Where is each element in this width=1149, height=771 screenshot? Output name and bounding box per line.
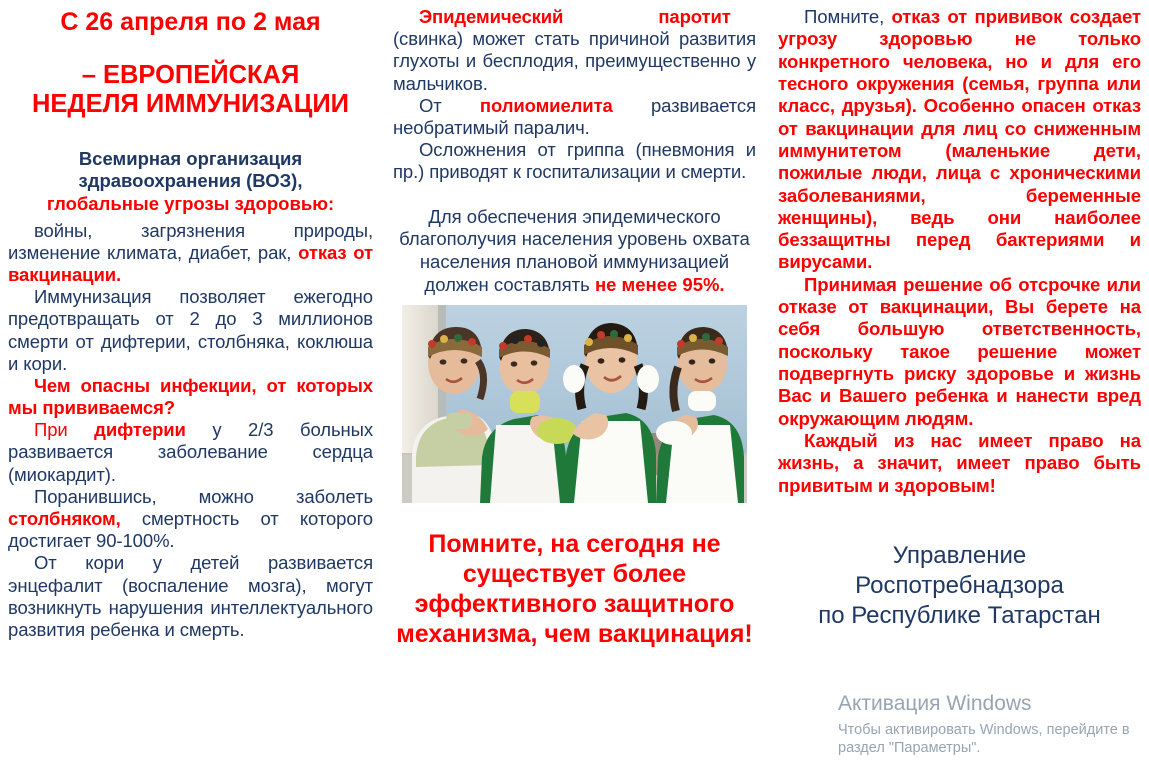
- org-line-2: Роспотребнадзора: [855, 572, 1064, 599]
- remember-prefix: Помните,: [804, 6, 891, 27]
- immunization-week-poster: С 26 апреля по 2 мая – ЕВРОПЕЙСКАЯ НЕДЕЛ…: [0, 0, 1149, 771]
- polio-prefix: От: [419, 95, 480, 116]
- remember-body: отказ от прививок создает угрозу здоровь…: [778, 6, 1141, 272]
- poster-column-right: Помните, отказ от прививок создает угроз…: [766, 0, 1149, 771]
- polio-keyword: полиомиелита: [480, 95, 613, 116]
- mumps-keyword-1: Эпидемический: [419, 6, 563, 27]
- who-global-threats: глобальные угрозы здоровью:: [8, 193, 373, 216]
- diphtheria-prefix: При: [34, 419, 94, 440]
- paragraph-threats: войны, загрязнения природы, изменение кл…: [8, 220, 373, 287]
- paragraph-flu: Осложнения от гриппа (пневмония и пр.) п…: [393, 139, 756, 183]
- paragraph-coverage: Для обеспечения эпидемического благополу…: [393, 206, 756, 297]
- paragraph-right-to-life: Каждый из нас имеет право на жизнь, а зн…: [778, 430, 1141, 497]
- paragraph-remember-refusal: Помните, отказ от прививок создает угроз…: [778, 6, 1141, 274]
- poster-column-left: С 26 апреля по 2 мая – ЕВРОПЕЙСКАЯ НЕДЕЛ…: [0, 0, 383, 771]
- tetanus-prefix: Поранившись, можно заболеть: [34, 486, 373, 507]
- mumps-keyword-2: паротит: [658, 6, 730, 27]
- paragraph-immunization-prevents: Иммунизация позволяет ежегодно предотвра…: [8, 286, 373, 375]
- poster-column-middle: Эпидемическийпаротит (свинка) может стат…: [383, 0, 766, 771]
- who-heading: Всемирная организация здравоохранения (В…: [8, 148, 373, 216]
- who-line-1: Всемирная организация: [79, 148, 302, 169]
- who-line-2: здравоохранения (ВОЗ),: [79, 170, 303, 191]
- paragraph-decision-responsibility: Принимая решение об отсрочке или отказе …: [778, 274, 1141, 430]
- tetanus-keyword: столбняком,: [8, 508, 121, 529]
- heading-why-infections-dangerous: Чем опасны инфекции, от которых мы приви…: [8, 375, 373, 419]
- paragraph-polio: От полиомиелита развивается необратимый …: [393, 95, 756, 139]
- photo-illustration: [402, 305, 747, 503]
- page-title-date: С 26 апреля по 2 мая: [8, 8, 373, 37]
- slogan-vaccination: Помните, на сегодня не существует более …: [393, 529, 756, 649]
- diphtheria-keyword: дифтерии: [94, 419, 186, 440]
- org-line-3: по Республике Татарстан: [818, 602, 1101, 629]
- organization-footer: Управление Роспотребнадзора по Республик…: [778, 541, 1141, 631]
- paragraph-mumps: Эпидемическийпаротит (свинка) может стат…: [393, 6, 756, 95]
- mumps-rest: (свинка) может стать причиной развития г…: [393, 28, 756, 93]
- spacer: [393, 184, 756, 206]
- paragraph-tetanus: Поранившись, можно заболеть столбняком, …: [8, 486, 373, 553]
- page-title-main: – ЕВРОПЕЙСКАЯ НЕДЕЛЯ ИММУНИЗАЦИИ: [8, 61, 373, 120]
- org-line-1: Управление: [893, 542, 1026, 569]
- coverage-highlight: не менее 95%.: [595, 274, 725, 295]
- paragraph-diphtheria: При дифтерии у 2/3 больных развивается з…: [8, 419, 373, 486]
- paragraph-measles: От кори у детей развивается энцефалит (в…: [8, 552, 373, 641]
- photo-vaccinated-girls: [402, 305, 747, 503]
